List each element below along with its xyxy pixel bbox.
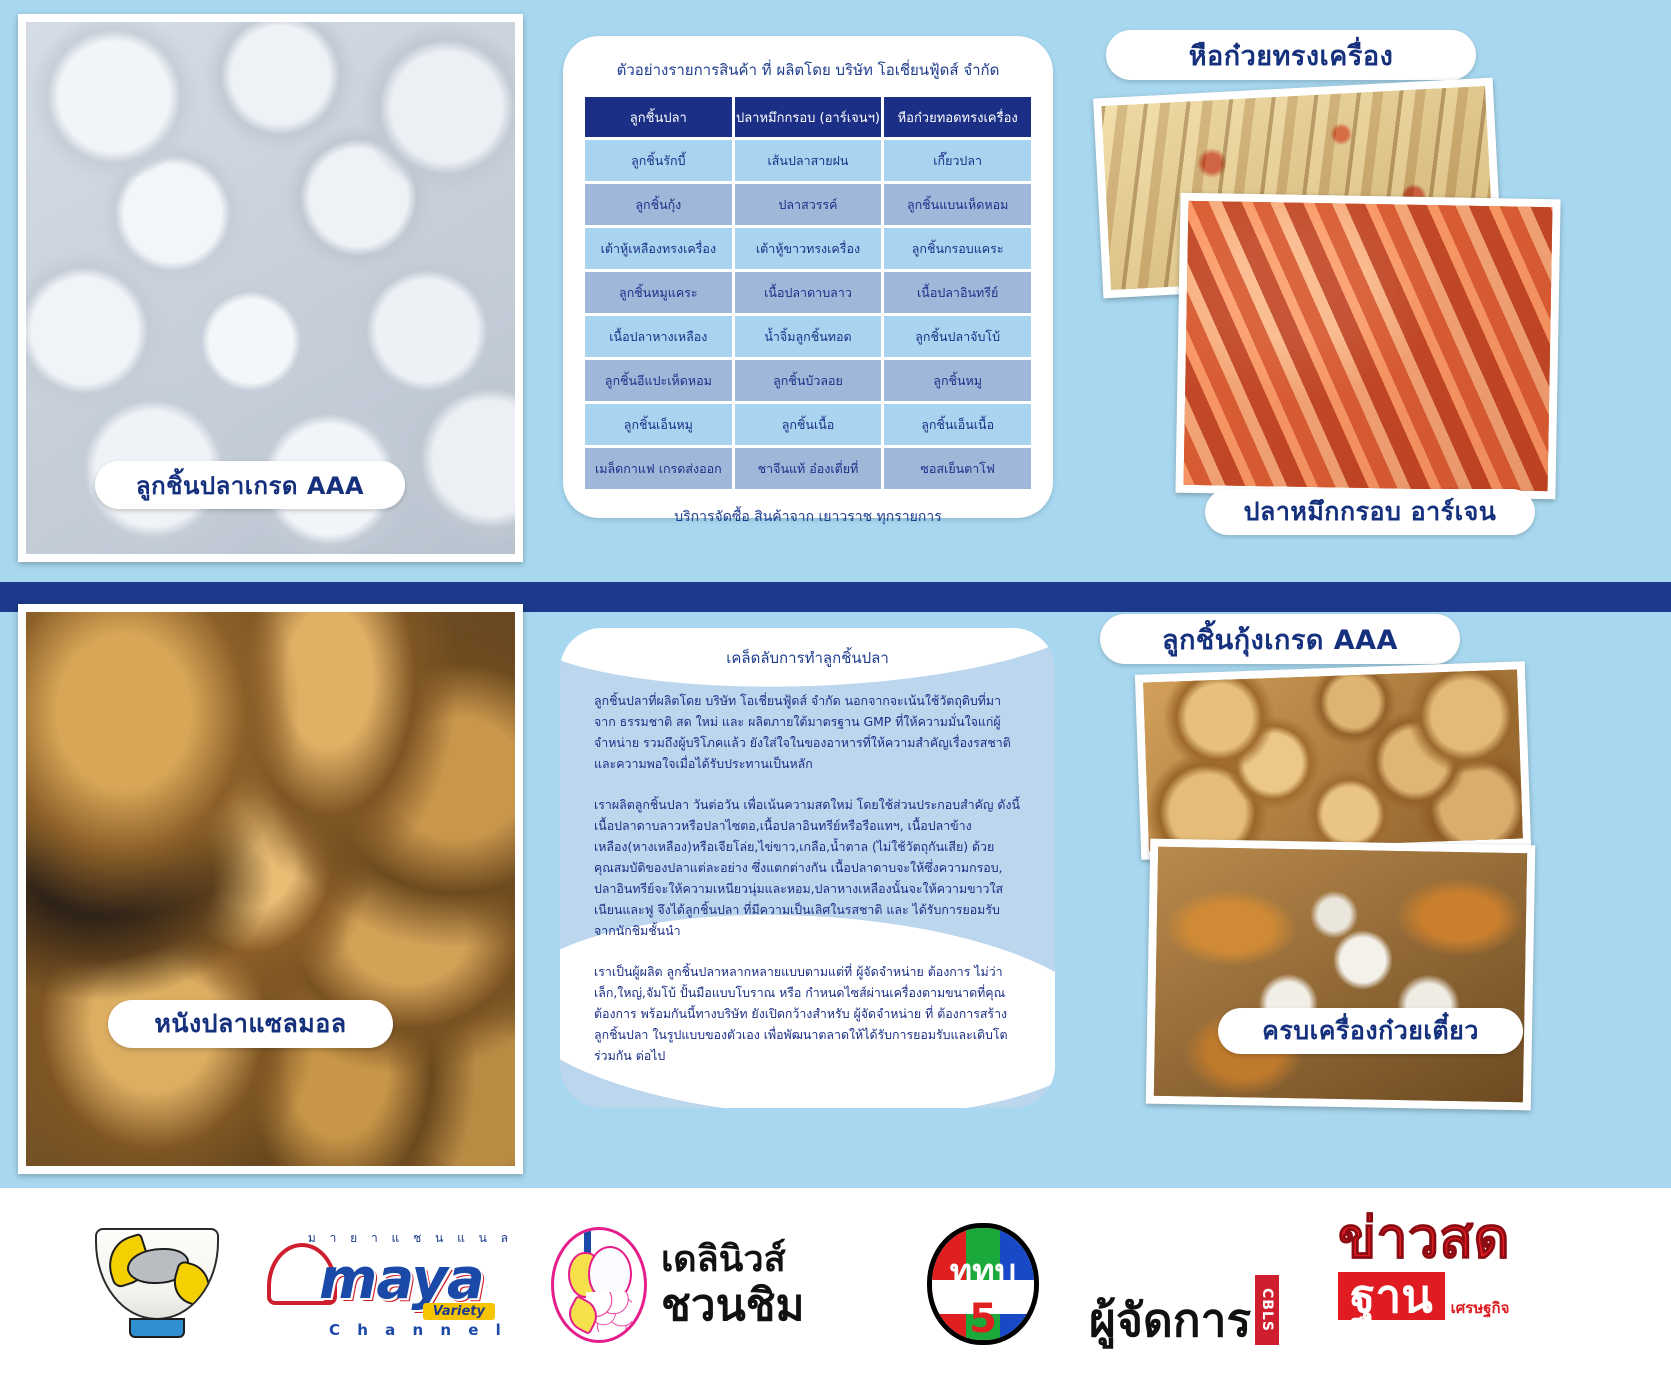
table-header-row: ลูกชิ้นปลา ปลาหมึกกรอบ (อาร์เจนฯ) หือก๋ว… <box>585 97 1031 137</box>
table-cell: เส้นปลาสายฝน <box>735 140 882 181</box>
table-row: ลูกชิ้นรักบี้ เส้นปลาสายฝน เกี๊ยวปลา <box>585 140 1031 181</box>
maya-channel-label: C h a n n e l <box>329 1321 507 1339</box>
brochure-page: ลูกชิ้นปลาเกรด AAA ตัวอย่างรายการสินค้า … <box>0 0 1671 1382</box>
khaosod-thansettakij-logo: ข่าวสด ฐาน เศรษฐกิจ <box>1338 1210 1590 1360</box>
noodle-caption: ครบเครื่องก๋วยเตี๋ยว <box>1218 1008 1523 1054</box>
table-cell: ลูกชิ้นอีแปะเห็ดหอม <box>585 360 732 401</box>
thaitv-number: 5 <box>932 1300 1034 1338</box>
secrets-paragraph: เราเป็นผู้ผลิต ลูกชิ้นปลาหลากหลายแบบตามแ… <box>594 961 1021 1066</box>
product-table: ลูกชิ้นปลา ปลาหมึกกรอบ (อาร์เจนฯ) หือก๋ว… <box>582 94 1034 492</box>
product-table-card: ตัวอย่างรายการสินค้า ที่ ผลิตโดย บริษัท … <box>563 36 1053 518</box>
product-table-footnote: บริการจัดซื้อ สินค้าจาก เยาวราช ทุกรายกา… <box>563 492 1053 528</box>
fishball-caption-label: ลูกชิ้นปลาเกรด AAA <box>136 466 364 505</box>
manager-label: ผู้จัดการ <box>1089 1295 1251 1345</box>
manager-badge: CBLS <box>1255 1275 1279 1345</box>
thaitv-shield-icon: ททบ 5 <box>927 1223 1039 1345</box>
chuanchim-wordmark-group: เดลินิวส์ ชวนชิม <box>661 1239 805 1331</box>
table-cell: ลูกชิ้นบัวลอย <box>735 360 882 401</box>
table-cell: เต้าหู้เหลืองทรงเครื่อง <box>585 228 732 269</box>
dailynews-chuanchim-logo: เดลินิวส์ ชวนชิม <box>551 1221 881 1349</box>
maya-variety-badge: Variety <box>423 1303 495 1320</box>
secrets-paragraph: เราผลิตลูกชิ้นปลา วันต่อวัน เพื่อเน้นควา… <box>594 794 1021 941</box>
table-row: เมล็ดกาแฟ เกรดส่งออก ชาจีนแท้ อ๋องเตี่ยท… <box>585 448 1031 489</box>
table-cell: ลูกชิ้นหมู <box>884 360 1031 401</box>
shrimpball-title-label: ลูกชิ้นกุ้งเกรด AAA <box>1162 618 1398 661</box>
shrimp-balls-photo <box>1143 670 1523 852</box>
noodle-photo-frame <box>1146 839 1536 1111</box>
table-header-cell: ปลาหมึกกรอบ (อาร์เจนฯ) <box>735 97 882 137</box>
noodle-caption-label: ครบเครื่องก๋วยเตี๋ยว <box>1262 1011 1479 1051</box>
bowl-logo <box>81 1224 233 1346</box>
product-table-title: ตัวอย่างรายการสินค้า ที่ ผลิตโดย บริษัท … <box>563 36 1053 94</box>
fishcake-title-pill: หือก๋วยทรงเครื่อง <box>1106 30 1476 80</box>
salmonskin-photo-frame <box>18 604 523 1174</box>
fishcake-title-label: หือก๋วยทรงเครื่อง <box>1189 34 1394 77</box>
bowl-icon <box>95 1228 219 1320</box>
thaitv-logo: ททบ 5 <box>915 1221 1055 1349</box>
salmon-skin-photo <box>26 612 515 1166</box>
fishball-caption: ลูกชิ้นปลาเกรด AAA <box>95 461 405 509</box>
table-cell: ลูกชิ้นหมูแคระ <box>585 272 732 313</box>
table-cell: ลูกชิ้นปลาจับโบ้ <box>884 316 1031 357</box>
table-row: เนื้อปลาหางเหลือง น้ำจิ้มลูกชิ้นทอด ลูกช… <box>585 316 1031 357</box>
table-cell: ลูกชิ้นเนื้อ <box>735 404 882 445</box>
secrets-paragraph: ลูกชิ้นปลาที่ผลิตโดย บริษัท โอเชี่ยนฟู้ด… <box>594 690 1021 774</box>
khaosod-label: ข่าวสด <box>1338 1210 1590 1268</box>
table-cell: ปลาสวรรค์ <box>735 184 882 225</box>
table-row: ลูกชิ้นอีแปะเห็ดหอม ลูกชิ้นบัวลอย ลูกชิ้… <box>585 360 1031 401</box>
thaitv-label: ททบ <box>932 1254 1034 1290</box>
shrimpball-photo-frame <box>1135 661 1531 859</box>
table-cell: เนื้อปลาหางเหลือง <box>585 316 732 357</box>
table-cell: ลูกชิ้นกุ้ง <box>585 184 732 225</box>
thansettakij-label: ฐาน <box>1338 1272 1445 1320</box>
squid-caption: ปลาหมึกกรอบ อาร์เจน <box>1205 489 1535 535</box>
table-cell: เนื้อปลาอินทรีย์ <box>884 272 1031 313</box>
noodle-soup-photo <box>1154 847 1527 1102</box>
secrets-body: ลูกชิ้นปลาที่ผลิตโดย บริษัท โอเชี่ยนฟู้ด… <box>594 690 1021 1086</box>
table-cell: ลูกชิ้นรักบี้ <box>585 140 732 181</box>
dailynews-label: เดลินิวส์ <box>661 1239 805 1281</box>
footer-logo-row: ม า ย า แ ช น แ น ล maya Variety C h a n… <box>0 1188 1671 1382</box>
table-header-cell: ลูกชิ้นปลา <box>585 97 732 137</box>
thansettakij-sublabel: เศรษฐกิจ <box>1451 1296 1510 1320</box>
salmonskin-caption: หนังปลาแซลมอล <box>108 1000 393 1048</box>
squid-photo-frame <box>1175 193 1560 500</box>
table-row: เต้าหู้เหลืองทรงเครื่อง เต้าหู้ขาวทรงเคร… <box>585 228 1031 269</box>
maya-thai-sublabel: ม า ย า แ ช น แ น ล <box>308 1229 513 1248</box>
table-row: ลูกชิ้นหมูแคระ เนื้อปลาดาบลาว เนื้อปลาอิ… <box>585 272 1031 313</box>
table-cell: เนื้อปลาดาบลาว <box>735 272 882 313</box>
table-cell: เกี๊ยวปลา <box>884 140 1031 181</box>
table-cell: ลูกชิ้นกรอบแคระ <box>884 228 1031 269</box>
thansettakij-group: ฐาน เศรษฐกิจ <box>1338 1272 1590 1320</box>
table-cell: ลูกชิ้นเอ็นเนื้อ <box>884 404 1031 445</box>
table-cell: น้ำจิ้มลูกชิ้นทอด <box>735 316 882 357</box>
table-cell: ชาจีนแท้ อ๋องเตี่ยที่ <box>735 448 882 489</box>
manager-logo: ผู้จัดการ CBLS <box>1089 1225 1304 1345</box>
squid-caption-label: ปลาหมึกกรอบ อาร์เจน <box>1244 492 1497 532</box>
table-cell: ลูกชิ้นเอ็นหมู <box>585 404 732 445</box>
table-header-cell: หือก๋วยทอดทรงเครื่อง <box>884 97 1031 137</box>
bowl-foot-icon <box>129 1318 185 1338</box>
table-cell: เมล็ดกาแฟ เกรดส่งออก <box>585 448 732 489</box>
secrets-heading: เคล็ดลับการทำลูกชิ้นปลา <box>560 646 1055 670</box>
table-cell: ลูกชิ้นแบนเห็ดหอม <box>884 184 1031 225</box>
shrimpball-title-pill: ลูกชิ้นกุ้งเกรด AAA <box>1100 614 1460 664</box>
table-cell: เต้าหู้ขาวทรงเครื่อง <box>735 228 882 269</box>
table-row: ลูกชิ้นเอ็นหมู ลูกชิ้นเนื้อ ลูกชิ้นเอ็นเ… <box>585 404 1031 445</box>
chuanchim-label: ชวนชิม <box>661 1281 805 1331</box>
table-cell: ซอสเย็นตาโฟ <box>884 448 1031 489</box>
table-row: ลูกชิ้นกุ้ง ปลาสวรรค์ ลูกชิ้นแบนเห็ดหอม <box>585 184 1031 225</box>
secrets-card: เคล็ดลับการทำลูกชิ้นปลา ลูกชิ้นปลาที่ผลิ… <box>560 628 1055 1108</box>
salmonskin-caption-label: หนังปลาแซลมอล <box>154 1004 346 1044</box>
maya-channel-logo: ม า ย า แ ช น แ น ล maya Variety C h a n… <box>267 1225 517 1345</box>
chuanchim-mark-icon <box>551 1227 647 1343</box>
crispy-squid-photo <box>1184 201 1553 491</box>
